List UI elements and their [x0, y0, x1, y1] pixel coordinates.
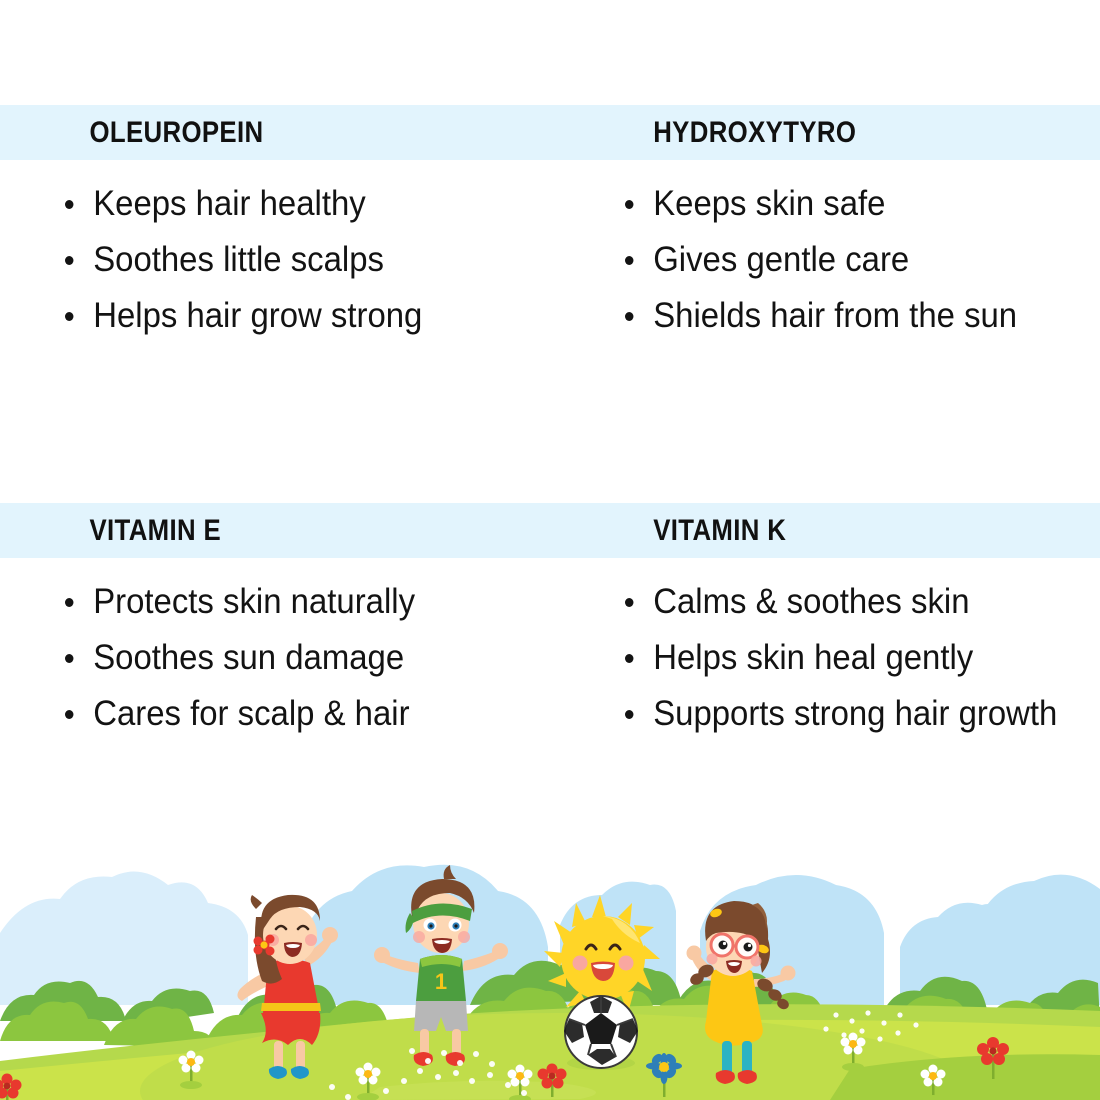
list-item: Supports strong hair growth [625, 686, 1072, 742]
bullet-dot-icon [625, 710, 633, 719]
bullet-dot-icon [625, 312, 633, 321]
ingredient-benefits-infographic: OLEUROPEIN Keeps hair healthy Soothes li… [0, 0, 1100, 1100]
daisy [841, 1033, 866, 1072]
benefit-text: Helps skin heal gently [653, 638, 973, 677]
panel-title-vitamin-e: VITAMIN E [0, 503, 473, 558]
panel-title-hydroxytyro: HYDROXYTYRO [550, 105, 1023, 160]
bullet-dot-icon [625, 598, 633, 607]
panel-title-vitamin-k: VITAMIN K [550, 503, 1023, 558]
benefit-text: Shields hair from the sun [653, 296, 1017, 335]
benefit-text: Gives gentle care [653, 240, 909, 279]
list-item: Shields hair from the sun [625, 288, 1072, 344]
bullet-dot-icon [625, 200, 633, 209]
panel-vitamin-k: VITAMIN K Calms & soothes skin Helps ski… [550, 503, 1100, 742]
benefit-text: Keeps skin safe [653, 184, 885, 223]
daisy [179, 1051, 204, 1090]
benefit-list-hydroxytyro: Keeps skin safe Gives gentle care Shield… [0, 160, 1100, 344]
panel-title-oleuropein: OLEUROPEIN [0, 105, 473, 160]
bullet-dot-icon [625, 256, 633, 265]
list-item: Keeps skin safe [625, 176, 1072, 232]
panel-hydroxytyro: HYDROXYTYRO Keeps skin safe Gives gentle… [550, 105, 1100, 344]
benefit-text: Calms & soothes skin [653, 582, 969, 621]
kids-meadow-illustration: 1 [0, 855, 1100, 1100]
bullet-dot-icon [625, 654, 633, 663]
list-item: Calms & soothes skin [625, 574, 1072, 630]
soccer-ball [564, 996, 638, 1070]
list-item: Helps skin heal gently [625, 630, 1072, 686]
list-item: Gives gentle care [625, 232, 1072, 288]
jersey-number: 1 [435, 969, 447, 994]
benefit-text: Supports strong hair growth [653, 694, 1057, 733]
benefit-list-vitamin-k: Calms & soothes skin Helps skin heal gen… [0, 558, 1100, 742]
